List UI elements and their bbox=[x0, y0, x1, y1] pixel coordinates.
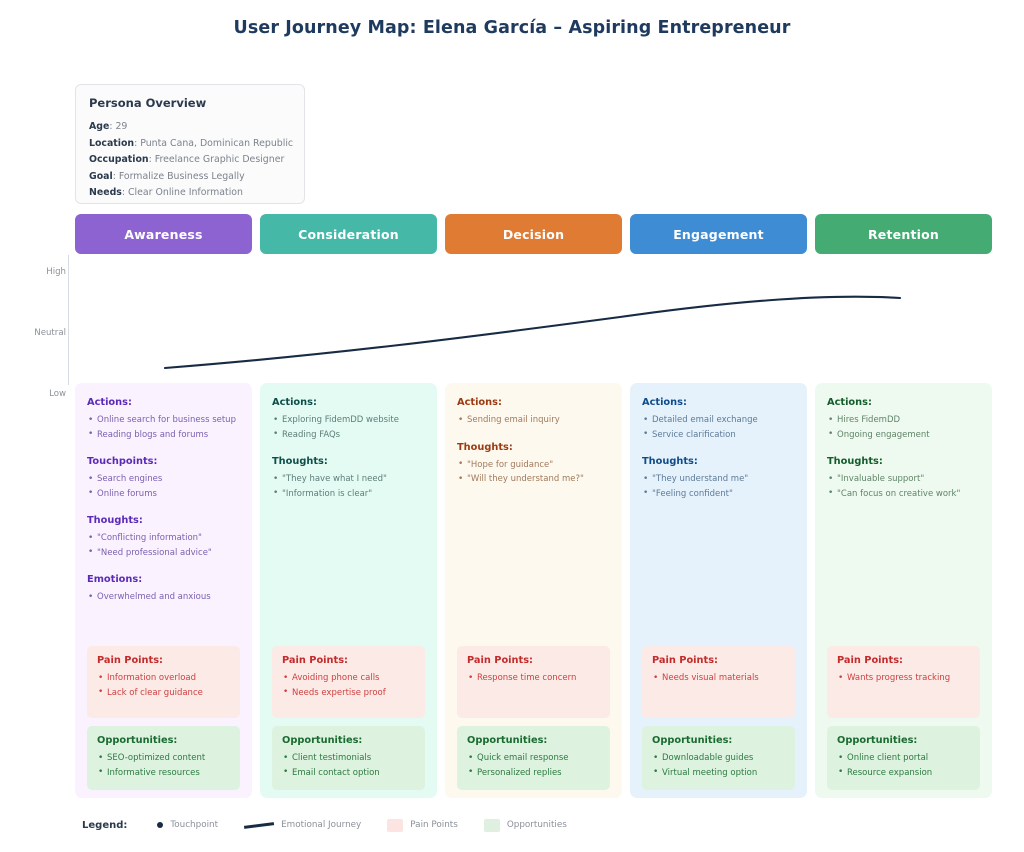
stage-chip-decision-label: Decision bbox=[503, 227, 564, 242]
col4-thoughts-heading: Thoughts: bbox=[642, 456, 795, 467]
col3-actions-heading: Actions: bbox=[457, 397, 610, 408]
col3-pain-list: Response time concern bbox=[467, 671, 600, 686]
list-item: Reading FAQs bbox=[272, 428, 425, 443]
legend-item-pain-points-label: Pain Points bbox=[410, 820, 458, 830]
col1-emotions-list: Overwhelmed and anxious bbox=[87, 590, 240, 605]
list-item: Needs visual materials bbox=[652, 671, 785, 686]
stage-chip-consideration-label: Consideration bbox=[298, 227, 399, 242]
list-item: Informative resources bbox=[97, 766, 230, 781]
list-item: "Conflicting information" bbox=[87, 531, 240, 546]
stage-chip-consideration[interactable]: Consideration bbox=[260, 214, 437, 254]
col4-opp-list: Downloadable guides Virtual meeting opti… bbox=[652, 751, 785, 780]
journey-column-awareness: Actions: Online search for business setu… bbox=[75, 383, 252, 798]
col3-opp-list: Quick email response Personalized replie… bbox=[467, 751, 600, 780]
col2-opp-heading: Opportunities: bbox=[282, 735, 415, 746]
col1-pain-list: Information overload Lack of clear guida… bbox=[97, 671, 230, 700]
legend-item-opportunities-label: Opportunities bbox=[507, 820, 567, 830]
list-item: Virtual meeting option bbox=[652, 766, 785, 781]
stage-header-bar: Awareness Consideration Decision Engagem… bbox=[75, 214, 992, 254]
col2-thoughts-list: "They have what I need" "Information is … bbox=[272, 472, 425, 501]
list-item: Downloadable guides bbox=[652, 751, 785, 766]
col1-actions-list: Online search for business setup Reading… bbox=[87, 413, 240, 442]
list-item: Online client portal bbox=[837, 751, 970, 766]
col4-actions-heading: Actions: bbox=[642, 397, 795, 408]
col5-pain-points-block: Pain Points: Wants progress tracking bbox=[827, 646, 980, 718]
persona-field-goal-value: Formalize Business Legally bbox=[119, 171, 245, 182]
list-item: Personalized replies bbox=[467, 766, 600, 781]
list-item: Quick email response bbox=[467, 751, 600, 766]
col1-opp-heading: Opportunities: bbox=[97, 735, 230, 746]
list-item: "Can focus on creative work" bbox=[827, 487, 980, 502]
col4-spacer bbox=[642, 515, 795, 646]
legend-item-emotional-journey: Emotional Journey bbox=[244, 820, 361, 830]
stage-chip-engagement[interactable]: Engagement bbox=[630, 214, 807, 254]
persona-field-occupation-value: Freelance Graphic Designer bbox=[155, 154, 285, 165]
list-item: "Invaluable support" bbox=[827, 472, 980, 487]
persona-field-goal: Goal: Formalize Business Legally bbox=[89, 169, 291, 186]
list-item: Response time concern bbox=[467, 671, 600, 686]
col1-thoughts-list: "Conflicting information" "Need professi… bbox=[87, 531, 240, 560]
stage-chip-awareness[interactable]: Awareness bbox=[75, 214, 252, 254]
journey-column-engagement: Actions: Detailed email exchange Service… bbox=[630, 383, 807, 798]
col4-actions-list: Detailed email exchange Service clarific… bbox=[642, 413, 795, 442]
col1-emotions-heading: Emotions: bbox=[87, 574, 240, 585]
emotional-journey-curve bbox=[0, 255, 1024, 385]
col1-opp-list: SEO-optimized content Informative resour… bbox=[97, 751, 230, 780]
col2-actions-heading: Actions: bbox=[272, 397, 425, 408]
list-item: "Feeling confident" bbox=[642, 487, 795, 502]
list-item: "Information is clear" bbox=[272, 487, 425, 502]
pink-swatch-icon bbox=[387, 819, 403, 832]
legend-item-touchpoint: Touchpoint bbox=[157, 820, 218, 830]
journey-column-consideration: Actions: Exploring FidemDD website Readi… bbox=[260, 383, 437, 798]
list-item: Resource expansion bbox=[837, 766, 970, 781]
col4-pain-heading: Pain Points: bbox=[652, 655, 785, 666]
col1-pain-heading: Pain Points: bbox=[97, 655, 230, 666]
col3-opportunities-block: Opportunities: Quick email response Pers… bbox=[457, 726, 610, 790]
stage-chip-retention[interactable]: Retention bbox=[815, 214, 992, 254]
persona-field-age: Age: 29 bbox=[89, 119, 291, 136]
col5-opp-heading: Opportunities: bbox=[837, 735, 970, 746]
persona-field-age-label: Age bbox=[89, 121, 109, 132]
stage-chip-engagement-label: Engagement bbox=[673, 227, 764, 242]
col2-spacer bbox=[272, 515, 425, 646]
col5-spacer bbox=[827, 515, 980, 646]
col5-opp-list: Online client portal Resource expansion bbox=[837, 751, 970, 780]
list-item: Sending email inquiry bbox=[457, 413, 610, 428]
col5-pain-list: Wants progress tracking bbox=[837, 671, 970, 686]
list-item: SEO-optimized content bbox=[97, 751, 230, 766]
col1-touchpoints-heading: Touchpoints: bbox=[87, 456, 240, 467]
persona-field-location-label: Location bbox=[89, 138, 134, 149]
list-item: Reading blogs and forums bbox=[87, 428, 240, 443]
list-item: Wants progress tracking bbox=[837, 671, 970, 686]
list-item: "Will they understand me?" bbox=[457, 472, 610, 487]
page-title: User Journey Map: Elena García – Aspirin… bbox=[0, 18, 1024, 38]
green-swatch-icon bbox=[484, 819, 500, 832]
col3-opp-heading: Opportunities: bbox=[467, 735, 600, 746]
list-item: Lack of clear guidance bbox=[97, 686, 230, 701]
list-item: Service clarification bbox=[642, 428, 795, 443]
persona-heading: Persona Overview bbox=[89, 96, 291, 110]
col2-actions-list: Exploring FidemDD website Reading FAQs bbox=[272, 413, 425, 442]
legend: Legend: Touchpoint Emotional Journey Pai… bbox=[82, 816, 593, 834]
col5-actions-heading: Actions: bbox=[827, 397, 980, 408]
col5-opportunities-block: Opportunities: Online client portal Reso… bbox=[827, 726, 980, 790]
list-item: Online forums bbox=[87, 487, 240, 502]
list-item: Client testimonials bbox=[282, 751, 415, 766]
col3-pain-heading: Pain Points: bbox=[467, 655, 600, 666]
col2-pain-points-block: Pain Points: Avoiding phone calls Needs … bbox=[272, 646, 425, 718]
list-item: Hires FidemDD bbox=[827, 413, 980, 428]
col3-actions-list: Sending email inquiry bbox=[457, 413, 610, 428]
list-item: "Need professional advice" bbox=[87, 546, 240, 561]
col3-thoughts-list: "Hope for guidance" "Will they understan… bbox=[457, 458, 610, 487]
col3-pain-points-block: Pain Points: Response time concern bbox=[457, 646, 610, 718]
persona-field-needs-label: Needs bbox=[89, 187, 122, 198]
persona-field-goal-label: Goal bbox=[89, 171, 113, 182]
journey-column-decision: Actions: Sending email inquiry Thoughts:… bbox=[445, 383, 622, 798]
persona-field-needs: Needs: Clear Online Information bbox=[89, 185, 291, 202]
col4-thoughts-list: "They understand me" "Feeling confident" bbox=[642, 472, 795, 501]
col5-thoughts-list: "Invaluable support" "Can focus on creat… bbox=[827, 472, 980, 501]
persona-field-needs-value: Clear Online Information bbox=[128, 187, 243, 198]
col2-pain-list: Avoiding phone calls Needs expertise pro… bbox=[282, 671, 415, 700]
dot-icon bbox=[157, 822, 163, 828]
col2-opportunities-block: Opportunities: Client testimonials Email… bbox=[272, 726, 425, 790]
list-item: "They have what I need" bbox=[272, 472, 425, 487]
list-item: Search engines bbox=[87, 472, 240, 487]
stage-chip-retention-label: Retention bbox=[868, 227, 939, 242]
col1-spacer bbox=[87, 619, 240, 647]
legend-item-opportunities: Opportunities bbox=[484, 819, 567, 832]
list-item: Needs expertise proof bbox=[282, 686, 415, 701]
col4-pain-list: Needs visual materials bbox=[652, 671, 785, 686]
col4-pain-points-block: Pain Points: Needs visual materials bbox=[642, 646, 795, 718]
stage-chip-decision[interactable]: Decision bbox=[445, 214, 622, 254]
list-item: Detailed email exchange bbox=[642, 413, 795, 428]
list-item: Ongoing engagement bbox=[827, 428, 980, 443]
col1-touchpoints-list: Search engines Online forums bbox=[87, 472, 240, 501]
list-item: Avoiding phone calls bbox=[282, 671, 415, 686]
list-item: "Hope for guidance" bbox=[457, 458, 610, 473]
col3-spacer bbox=[457, 501, 610, 647]
persona-overview-card: Persona Overview Age: 29 Location: Punta… bbox=[75, 84, 305, 204]
persona-field-location-value: Punta Cana, Dominican Republic bbox=[140, 138, 293, 149]
legend-item-emotional-journey-label: Emotional Journey bbox=[281, 820, 361, 830]
persona-field-occupation-label: Occupation bbox=[89, 154, 149, 165]
list-item: Exploring FidemDD website bbox=[272, 413, 425, 428]
col1-opportunities-block: Opportunities: SEO-optimized content Inf… bbox=[87, 726, 240, 790]
col5-thoughts-heading: Thoughts: bbox=[827, 456, 980, 467]
journey-column-retention: Actions: Hires FidemDD Ongoing engagemen… bbox=[815, 383, 992, 798]
persona-field-age-value: 29 bbox=[115, 121, 127, 132]
stage-chip-awareness-label: Awareness bbox=[124, 227, 202, 242]
col1-pain-points-block: Pain Points: Information overload Lack o… bbox=[87, 646, 240, 718]
legend-item-touchpoint-label: Touchpoint bbox=[170, 820, 218, 830]
line-icon bbox=[244, 822, 274, 828]
list-item: Overwhelmed and anxious bbox=[87, 590, 240, 605]
col5-actions-list: Hires FidemDD Ongoing engagement bbox=[827, 413, 980, 442]
journey-columns: Actions: Online search for business setu… bbox=[75, 383, 992, 798]
col2-thoughts-heading: Thoughts: bbox=[272, 456, 425, 467]
col1-actions-heading: Actions: bbox=[87, 397, 240, 408]
list-item: Information overload bbox=[97, 671, 230, 686]
list-item: Email contact option bbox=[282, 766, 415, 781]
legend-title: Legend: bbox=[82, 820, 127, 831]
persona-field-occupation: Occupation: Freelance Graphic Designer bbox=[89, 152, 291, 169]
list-item: Online search for business setup bbox=[87, 413, 240, 428]
col3-thoughts-heading: Thoughts: bbox=[457, 442, 610, 453]
col2-pain-heading: Pain Points: bbox=[282, 655, 415, 666]
col1-thoughts-heading: Thoughts: bbox=[87, 515, 240, 526]
col4-opportunities-block: Opportunities: Downloadable guides Virtu… bbox=[642, 726, 795, 790]
list-item: "They understand me" bbox=[642, 472, 795, 487]
axis-label-low: Low bbox=[10, 389, 66, 399]
col2-opp-list: Client testimonials Email contact option bbox=[282, 751, 415, 780]
col5-pain-heading: Pain Points: bbox=[837, 655, 970, 666]
col4-opp-heading: Opportunities: bbox=[652, 735, 785, 746]
persona-field-location: Location: Punta Cana, Dominican Republic bbox=[89, 136, 291, 153]
legend-item-pain-points: Pain Points bbox=[387, 819, 458, 832]
